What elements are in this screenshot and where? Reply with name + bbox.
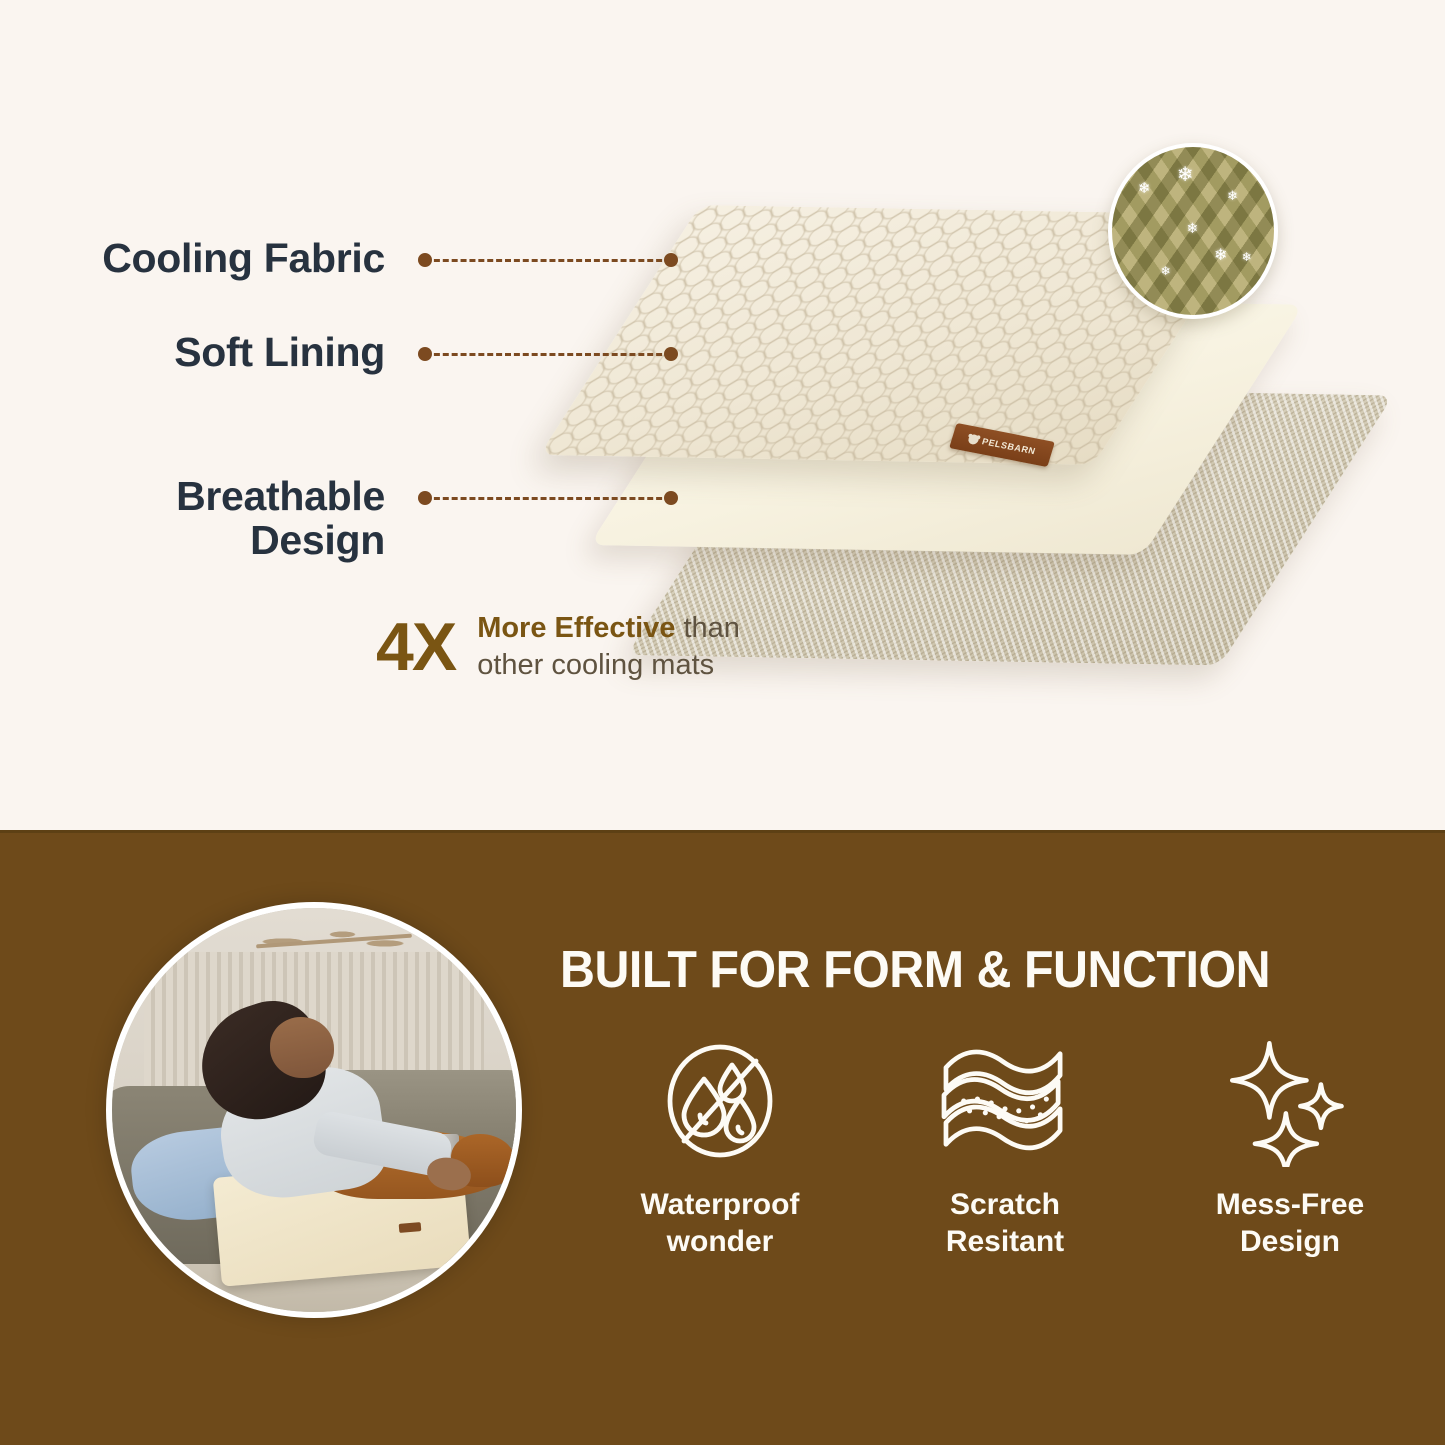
effectiveness-claim: 4X More Effective than other cooling mat… bbox=[376, 610, 740, 684]
paw-icon bbox=[967, 434, 980, 446]
connector-line bbox=[425, 497, 671, 500]
feature-label: Mess-Free Design bbox=[1216, 1186, 1364, 1260]
connector-cooling-fabric bbox=[418, 253, 678, 267]
section-title: BUILT FOR FORM & FUNCTION bbox=[560, 940, 1270, 1000]
photo-branch-decor bbox=[249, 920, 419, 956]
claim-multiplier: 4X bbox=[376, 613, 455, 681]
sparkles-icon bbox=[1226, 1030, 1354, 1172]
snowflake-icon: ❄ bbox=[1242, 251, 1252, 263]
connector-dot-end bbox=[664, 347, 678, 361]
product-infographic: PELSBARN ❄ ❄ ❄ ❄ ❄ ❄ ❄ Cooling Fabric So… bbox=[0, 0, 1445, 1445]
feature-waterproof: Waterproof wonder bbox=[600, 1030, 840, 1260]
water-drops-crossed-icon bbox=[656, 1030, 784, 1172]
feature-label: Scratch Resitant bbox=[946, 1186, 1064, 1260]
claim-text: More Effective than other cooling mats bbox=[477, 610, 740, 684]
snowflake-icon: ❄ bbox=[1214, 248, 1227, 264]
connector-line bbox=[425, 259, 671, 262]
wavy-fabric-icon bbox=[936, 1030, 1074, 1172]
feature-list: Waterproof wonder bbox=[600, 1030, 1410, 1300]
lifestyle-photo bbox=[106, 902, 522, 1318]
claim-strong: More Effective bbox=[477, 612, 675, 644]
snowflake-icon: ❄ bbox=[1161, 265, 1171, 277]
connector-dot-end bbox=[664, 253, 678, 267]
connector-dot-end bbox=[664, 491, 678, 505]
brand-name: PELSBARN bbox=[981, 436, 1037, 456]
connector-soft-lining bbox=[418, 347, 678, 361]
label-breathable-design: Breathable Design bbox=[65, 474, 385, 563]
claim-line-1: More Effective than bbox=[477, 610, 740, 647]
layer-breakdown-section: PELSBARN ❄ ❄ ❄ ❄ ❄ ❄ ❄ Cooling Fabric So… bbox=[0, 0, 1445, 833]
snowflake-icon: ❄ bbox=[1187, 221, 1199, 235]
label-soft-lining: Soft Lining bbox=[174, 330, 385, 374]
snowflake-icon: ❄ bbox=[1138, 181, 1151, 196]
label-cooling-fabric: Cooling Fabric bbox=[102, 236, 385, 280]
photo-woman-head bbox=[270, 1017, 335, 1078]
snowflake-icon: ❄ bbox=[1177, 165, 1194, 185]
feature-mess-free: Mess-Free Design bbox=[1170, 1030, 1410, 1260]
feature-label: Waterproof wonder bbox=[641, 1186, 800, 1260]
claim-line-2: other cooling mats bbox=[477, 647, 740, 684]
snowflake-icon: ❄ bbox=[1227, 189, 1238, 202]
claim-regular: than bbox=[675, 612, 740, 644]
feature-scratch-resistant: Scratch Resitant bbox=[885, 1030, 1125, 1260]
connector-breathable-design bbox=[418, 491, 678, 505]
connector-line bbox=[425, 353, 671, 356]
fabric-weave-closeup: ❄ ❄ ❄ ❄ ❄ ❄ ❄ bbox=[1108, 143, 1278, 319]
